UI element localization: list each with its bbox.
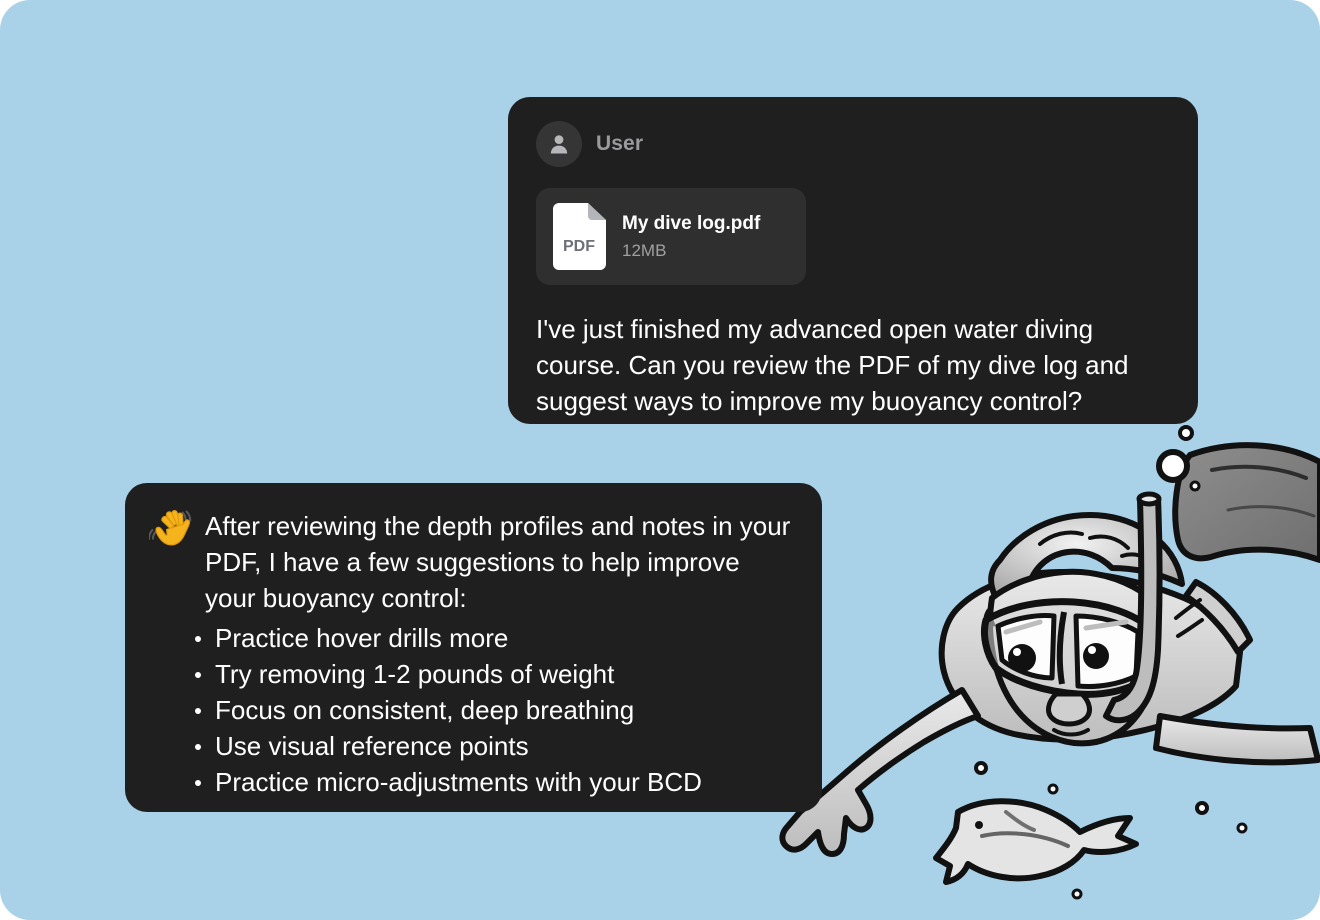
assistant-intro-text: After reviewing the depth profiles and n… — [205, 507, 792, 616]
assistant-message-bubble: After reviewing the depth profiles and n… — [125, 483, 822, 812]
file-attachment-chip[interactable]: PDF My dive log.pdf 12MB — [536, 188, 806, 285]
svg-text:PDF: PDF — [563, 238, 595, 255]
fish-illustration — [936, 801, 1136, 882]
person-avatar-icon — [536, 121, 582, 167]
message-author-name: User — [596, 132, 643, 156]
user-message-header: User — [536, 121, 1170, 167]
pdf-file-icon: PDF — [553, 203, 606, 270]
file-meta: My dive log.pdf 12MB — [622, 213, 760, 261]
file-name: My dive log.pdf — [622, 213, 760, 235]
list-item: Use visual reference points — [191, 728, 792, 764]
screenshot-canvas: User PDF My dive log.pdf 12MB I've just … — [0, 0, 1320, 920]
user-message-bubble: User PDF My dive log.pdf 12MB I've just … — [508, 97, 1198, 424]
list-item: Practice hover drills more — [191, 620, 792, 656]
list-item: Practice micro-adjustments with your BCD — [191, 764, 792, 800]
waving-hand-emoji — [149, 507, 193, 551]
user-message-text: I've just finished my advanced open wate… — [536, 311, 1170, 419]
file-size: 12MB — [622, 241, 760, 261]
list-item: Focus on consistent, deep breathing — [191, 692, 792, 728]
suggestion-list: Practice hover drills more Try removing … — [149, 620, 792, 800]
diver-figure — [782, 445, 1320, 854]
assistant-lead: After reviewing the depth profiles and n… — [149, 507, 792, 616]
list-item: Try removing 1-2 pounds of weight — [191, 656, 792, 692]
bubble-cluster — [976, 387, 1246, 898]
